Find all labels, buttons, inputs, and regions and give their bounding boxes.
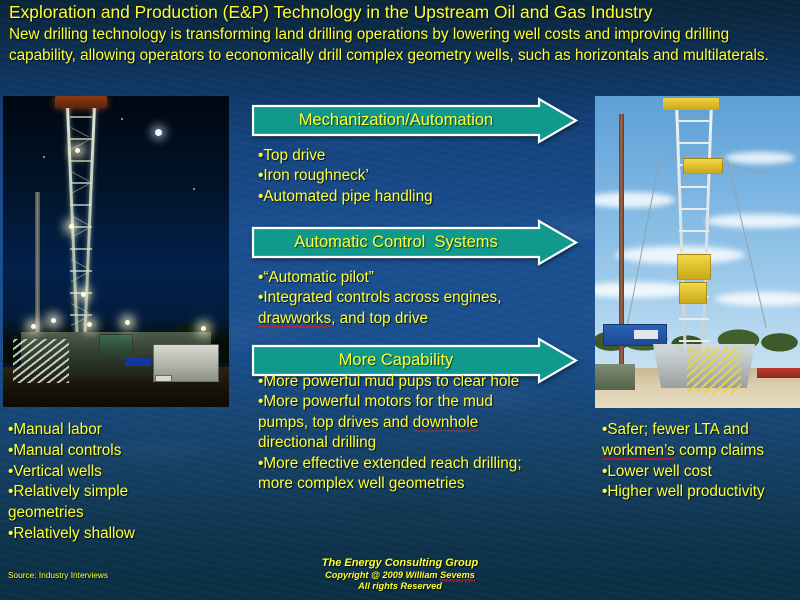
star-icon	[193, 188, 195, 190]
flood-light-icon	[201, 326, 206, 331]
pipe-ramp	[687, 348, 741, 394]
list-item: •“Automatic pilot”	[258, 268, 588, 288]
photo-night-drilling-rig	[3, 96, 229, 407]
credit-rights: All rights Reserved	[0, 581, 800, 592]
bullet-list-benefits: •Safer; fewer LTA and workmen’s comp cla…	[602, 420, 800, 503]
list-item: •More powerful motors for the mud	[258, 392, 598, 412]
derrick-structure	[673, 104, 715, 386]
list-item: •Relatively shallow	[8, 524, 233, 545]
iron-roughneck	[679, 282, 707, 304]
list-item: •Manual controls	[8, 441, 233, 462]
flood-light-icon	[87, 322, 92, 327]
list-item: pumps, top drives and downhole	[258, 413, 598, 433]
list-item: •Safer; fewer LTA and	[602, 420, 800, 441]
derrick-light-icon	[69, 224, 74, 229]
bullet-list-more-capability: •More powerful mud pups to clear hole •M…	[258, 372, 598, 494]
pipe-rack	[757, 368, 800, 378]
banner-automatic-control-systems[interactable]: Automatic Control Systems	[251, 219, 578, 266]
monkeyboard-platform	[683, 158, 723, 174]
list-item: •Lower well cost	[602, 462, 800, 483]
star-icon	[43, 156, 45, 158]
flood-light-icon	[51, 318, 56, 323]
list-item: more complex well geometries	[258, 474, 598, 494]
bullet-list-mechanization: •Top drive •Iron roughneck’ •Automated p…	[258, 146, 588, 207]
cloud	[725, 152, 795, 164]
credits-block: The Energy Consulting Group Copyright @ …	[0, 557, 800, 592]
list-item: •Relatively simple	[8, 482, 233, 503]
list-item: •Top drive	[258, 146, 588, 166]
misspelled-word: workmen’s	[602, 442, 675, 461]
generator-unit	[595, 364, 635, 390]
derrick-structure	[61, 102, 101, 348]
slide-subtitle: New drilling technology is transforming …	[9, 23, 795, 66]
list-item: •Higher well productivity	[602, 482, 800, 503]
list-item: •Iron roughneck’	[258, 166, 588, 186]
engine-house	[99, 334, 133, 356]
crown-block	[663, 98, 719, 110]
equipment-container	[603, 324, 667, 346]
flood-light-icon	[31, 324, 36, 329]
moon-icon	[155, 129, 162, 136]
crown-block	[55, 96, 107, 108]
photo-modern-drilling-rig	[595, 96, 800, 408]
bullet-list-conventional-drilling: •Manual labor •Manual controls •Vertical…	[8, 420, 233, 545]
misspelled-word: downhole	[413, 414, 479, 433]
list-item: directional drilling	[258, 433, 598, 453]
list-item: •Manual labor	[8, 420, 233, 441]
list-item: •More effective extended reach drilling;	[258, 454, 598, 474]
list-item: drawworks, and top drive	[258, 309, 588, 329]
list-item: •More powerful mud pups to clear hole	[258, 372, 598, 392]
stairs	[13, 339, 69, 383]
misspelled-word: Sevems	[440, 570, 475, 582]
banner-mechanization-automation[interactable]: Mechanization/Automation	[251, 97, 578, 144]
rig-placard	[155, 375, 172, 382]
credit-organization: The Energy Consulting Group	[0, 557, 800, 570]
slide-header: Exploration and Production (E&P) Technol…	[9, 2, 795, 66]
credit-copyright-text: Copyright @ 2009 William	[325, 570, 440, 580]
derrick-light-icon	[75, 148, 80, 153]
rig-signage	[125, 358, 151, 366]
derrick-light-icon	[81, 292, 86, 297]
slide-canvas: Exploration and Production (E&P) Technol…	[0, 0, 800, 600]
list-item: workmen’s comp claims	[602, 441, 800, 462]
top-drive	[677, 254, 711, 280]
list-item: •Vertical wells	[8, 462, 233, 483]
list-item: •Automated pipe handling	[258, 187, 588, 207]
star-icon	[121, 118, 123, 120]
list-item: •Integrated controls across engines,	[258, 288, 588, 308]
credit-copyright: Copyright @ 2009 William Sevems	[0, 570, 800, 581]
bullet-list-automatic-control: •“Automatic pilot” •Integrated controls …	[258, 268, 588, 329]
list-item: geometries	[8, 503, 233, 524]
page-title: Exploration and Production (E&P) Technol…	[9, 2, 795, 23]
misspelled-word: drawworks	[258, 310, 331, 329]
flood-light-icon	[125, 320, 130, 325]
